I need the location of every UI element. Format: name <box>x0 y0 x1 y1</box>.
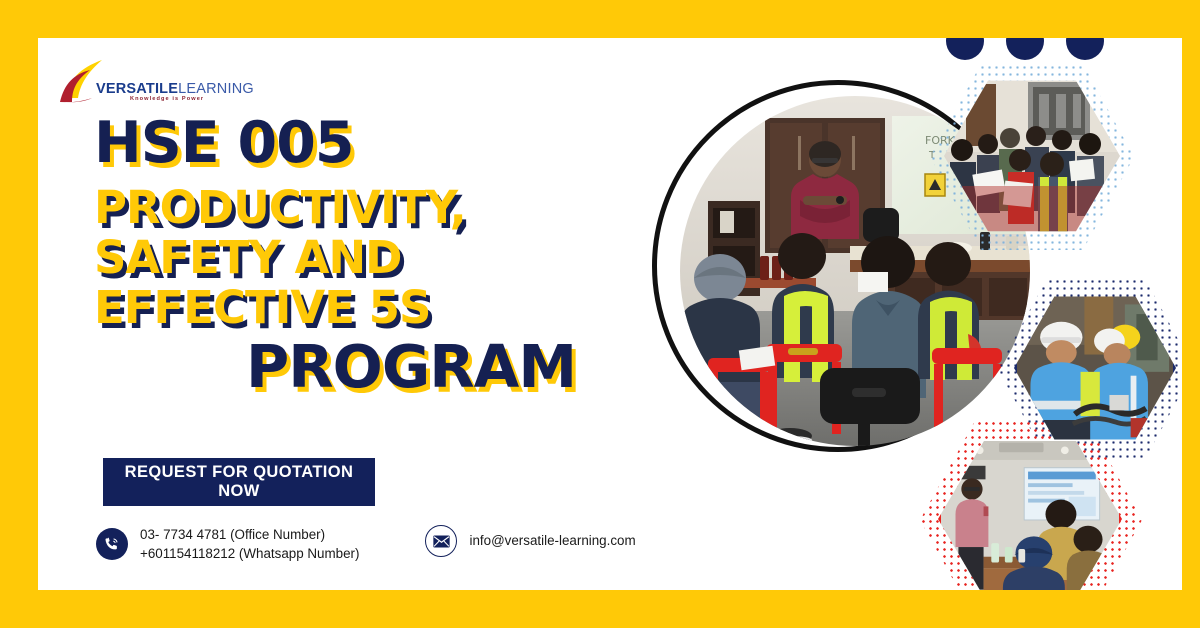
phone-contact[interactable]: 03- 7734 4781 (Office Number) +601154118… <box>96 525 359 563</box>
company-logo[interactable]: VERSATILELEARNING Knowledge is Power <box>58 58 218 113</box>
envelope-icon <box>425 525 457 557</box>
media-column: FORK T <box>638 38 1182 590</box>
banner-card: VERSATILELEARNING Knowledge is Power HSE… <box>38 38 1182 590</box>
decorative-dot <box>946 38 984 60</box>
promotional-banner: VERSATILELEARNING Knowledge is Power HSE… <box>0 0 1200 628</box>
page-title: HSE 005 PRODUCTIVITY, SAFETY AND EFFECTI… <box>94 116 674 396</box>
decorative-dot <box>1006 38 1044 60</box>
decorative-dot <box>1066 38 1104 60</box>
headline-line-5: PROGRAM <box>246 338 674 396</box>
phone-office: 03- 7734 4781 (Office Number) <box>140 525 359 544</box>
headline-line-1: HSE 005 <box>94 116 674 172</box>
request-quotation-button[interactable]: REQUEST FOR QUOTATION NOW <box>103 458 375 506</box>
headline-line-4: EFFECTIVE 5S <box>94 286 674 330</box>
email-address: info@versatile-learning.com <box>469 531 635 550</box>
content-column: VERSATILELEARNING Knowledge is Power HSE… <box>38 38 678 590</box>
headline-line-3: SAFETY AND <box>94 236 674 280</box>
headline-line-2: PRODUCTIVITY, <box>94 186 674 230</box>
contact-bar: 03- 7734 4781 (Office Number) +601154118… <box>96 525 636 563</box>
logo-secondary-text: LEARNING <box>178 81 254 97</box>
email-contact[interactable]: info@versatile-learning.com <box>425 525 635 557</box>
decorative-dots <box>946 38 1104 60</box>
phone-numbers: 03- 7734 4781 (Office Number) +601154118… <box>140 525 359 563</box>
phone-whatsapp: +601154118212 (Whatsapp Number) <box>140 544 359 563</box>
phone-icon <box>96 528 128 560</box>
logo-primary-text: VERSATILE <box>96 81 178 97</box>
logo-tagline: Knowledge is Power <box>130 96 204 102</box>
